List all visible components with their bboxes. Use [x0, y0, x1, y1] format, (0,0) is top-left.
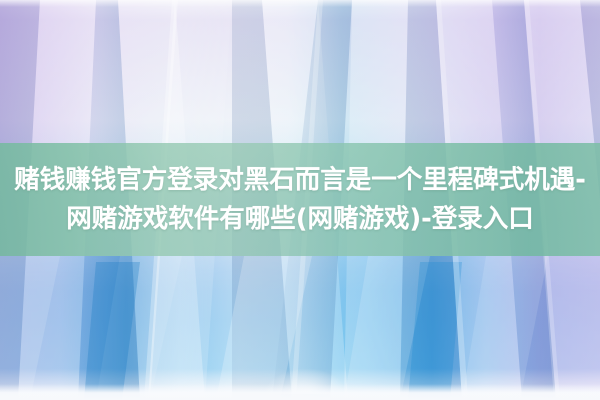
- caption-line-1: 赌钱赚钱官方登录对黑石而言是一个里程碑式机遇-: [14, 161, 586, 200]
- caption-line-2: 网赌游戏软件有哪些(网赌游戏)-登录入口: [66, 200, 533, 239]
- caption-band: 赌钱赚钱官方登录对黑石而言是一个里程碑式机遇- 网赌游戏软件有哪些(网赌游戏)-…: [0, 143, 600, 256]
- top-edge-highlight: [0, 0, 600, 7]
- bottom-edge-strip: [0, 384, 600, 400]
- banner-image: 赌钱赚钱官方登录对黑石而言是一个里程碑式机遇- 网赌游戏软件有哪些(网赌游戏)-…: [0, 0, 600, 400]
